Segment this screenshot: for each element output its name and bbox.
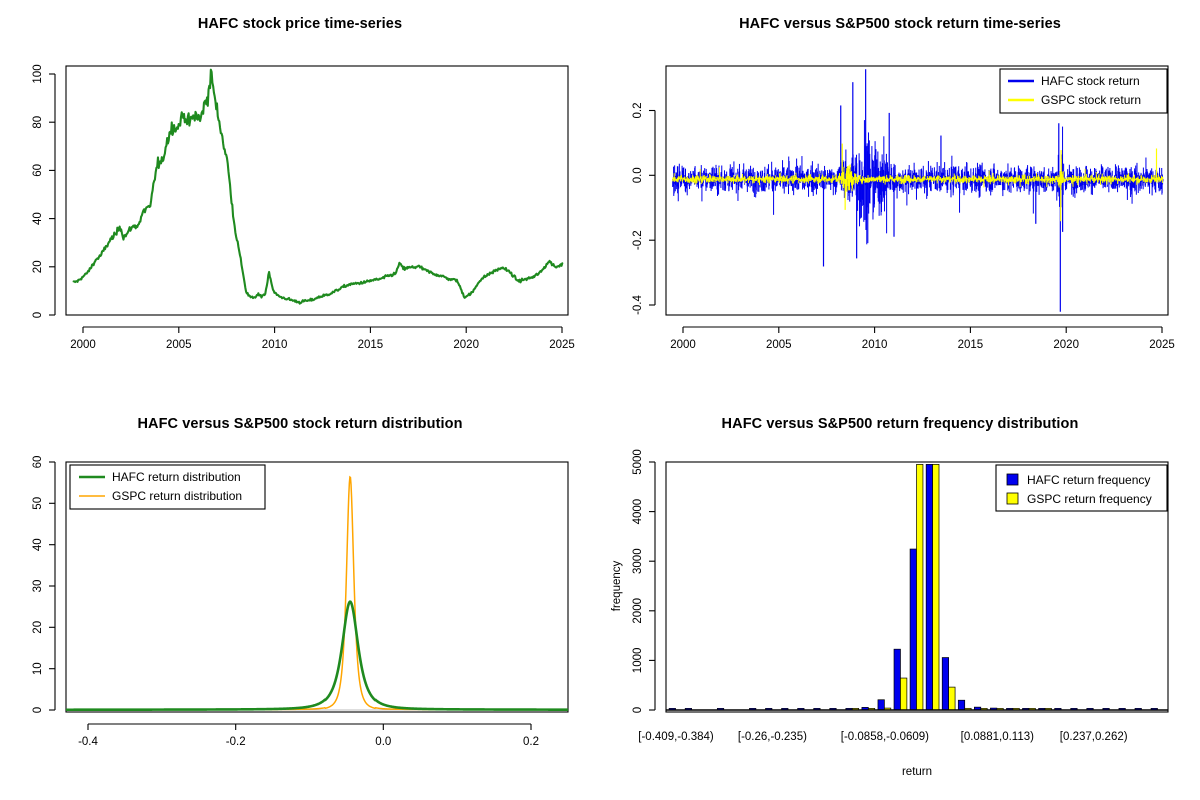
xtick-tl-5: 2025	[549, 339, 575, 351]
histogram-bar	[942, 658, 948, 710]
histogram-bar	[933, 464, 939, 710]
xtick-bl-0: -0.4	[78, 736, 98, 748]
ytick-tr-1: -0.2	[632, 230, 644, 250]
xtick-tr-5: 2025	[1149, 339, 1175, 351]
xtick-bl-1: -0.2	[226, 736, 246, 748]
xtick-tl-4: 2020	[453, 339, 479, 351]
x-axis-title-bottom-right: return	[902, 766, 932, 778]
ytick-bl-4: 40	[32, 538, 44, 551]
legend-label-gspc-frequency: GSPC return frequency	[1027, 492, 1152, 506]
legend-label-gspc-density: GSPC return distribution	[112, 489, 242, 503]
ytick-tl-1: 20	[32, 260, 44, 273]
histogram-bar	[910, 549, 916, 710]
ytick-br-2: 2000	[632, 598, 644, 624]
legend-bottom-left[interactable]: HAFC return distribution GSPC return dis…	[70, 465, 265, 509]
histogram-bar	[949, 687, 955, 710]
plot-bottom-right: 0 1000 2000 3000 4000 5000 frequency [-0…	[600, 400, 1200, 800]
xtick-tr-0: 2000	[670, 339, 696, 351]
ytick-tl-0: 0	[32, 312, 44, 318]
legend-label-hafc-frequency: HAFC return frequency	[1027, 473, 1150, 487]
xtick-tl-3: 2015	[358, 339, 384, 351]
bin-label: [0.0881,0.113)	[961, 731, 1034, 743]
ytick-tr-3: 0.2	[632, 103, 644, 119]
x-axis-bottom-left: -0.4 -0.2 0.0 0.2	[78, 724, 539, 748]
series-hafc-density	[66, 602, 568, 710]
histogram-bar	[878, 700, 884, 710]
ytick-bl-2: 20	[32, 621, 44, 634]
ytick-br-0: 0	[632, 707, 644, 713]
y-axis-bottom-right: 0 1000 2000 3000 4000 5000 frequency	[611, 449, 655, 713]
xtick-tl-1: 2005	[166, 339, 192, 351]
histogram-bar	[926, 464, 932, 710]
panel-return-frequency: HAFC versus S&P500 return frequency dist…	[600, 400, 1200, 800]
xtick-tl-2: 2010	[262, 339, 288, 351]
ytick-br-1: 1000	[632, 648, 644, 674]
bin-label: [-0.409,-0.384)	[638, 731, 714, 743]
ytick-bl-0: 0	[32, 707, 44, 713]
ytick-br-4: 4000	[632, 499, 644, 525]
panel-hafc-price-timeseries: HAFC stock price time-series 0 20 40 60 …	[0, 0, 600, 400]
legend-swatch-gspc-frequency	[1007, 493, 1018, 504]
xtick-bl-3: 0.2	[523, 736, 539, 748]
xtick-tr-2: 2010	[862, 339, 888, 351]
y-axis-top-right: -0.4 -0.2 0.0 0.2	[632, 103, 655, 315]
legend-swatch-hafc-frequency	[1007, 474, 1018, 485]
x-axis-bin-labels: [-0.409,-0.384)[-0.26,-0.235)[-0.0858,-0…	[638, 731, 1127, 743]
histogram-bar	[958, 700, 964, 710]
bin-label: [-0.26,-0.235)	[738, 731, 807, 743]
xtick-bl-2: 0.0	[375, 736, 391, 748]
ytick-tr-0: -0.4	[632, 294, 644, 314]
plot-bottom-left: 0 10 20 30 40 50 60 -0.4 -0.2 0.0 0.2	[0, 400, 600, 800]
ytick-br-3: 3000	[632, 548, 644, 574]
legend-label-hafc-density: HAFC return distribution	[112, 470, 241, 484]
ytick-bl-5: 50	[32, 497, 44, 510]
ytick-tl-3: 60	[32, 164, 44, 177]
ytick-bl-1: 10	[32, 662, 44, 675]
xtick-tr-1: 2005	[766, 339, 792, 351]
plot-top-right: -0.4 -0.2 0.0 0.2 2000 2005 2010 2015 20…	[600, 0, 1200, 400]
xtick-tr-3: 2015	[958, 339, 984, 351]
bin-label: [-0.0858,-0.0609)	[841, 731, 929, 743]
ytick-tr-2: 0.0	[632, 167, 644, 183]
series-gspc-density	[66, 477, 568, 710]
xtick-tr-4: 2020	[1053, 339, 1079, 351]
histogram-bar	[900, 678, 906, 710]
xtick-tl-0: 2000	[70, 339, 96, 351]
bin-label: [0.237,0.262)	[1060, 731, 1128, 743]
panel-return-timeseries: HAFC versus S&P500 stock return time-ser…	[600, 0, 1200, 400]
ytick-tl-5: 100	[32, 64, 44, 83]
legend-top-right[interactable]: HAFC stock return GSPC stock return	[1000, 69, 1167, 113]
ytick-tl-2: 40	[32, 212, 44, 225]
x-axis-top-left: 2000 2005 2010 2015 2020 2025	[70, 327, 575, 351]
legend-label-gspc-return: GSPC stock return	[1041, 93, 1141, 107]
ytick-bl-3: 30	[32, 580, 44, 593]
histogram-bar	[917, 464, 923, 710]
plot-box-top-left	[66, 66, 568, 315]
y-axis-title-bottom-right: frequency	[611, 561, 623, 612]
plot-top-left: 0 20 40 60 80 100 2000 2005 2010 2015	[0, 0, 600, 400]
y-axis-bottom-left: 0 10 20 30 40 50 60	[32, 456, 55, 714]
ytick-tl-4: 80	[32, 116, 44, 129]
figure-canvas: HAFC stock price time-series 0 20 40 60 …	[0, 0, 1200, 800]
ytick-bl-6: 60	[32, 456, 44, 469]
series-hafc-price	[74, 70, 563, 304]
histogram-bar	[894, 649, 900, 710]
ytick-br-5: 5000	[632, 449, 644, 475]
legend-label-hafc-return: HAFC stock return	[1041, 74, 1140, 88]
panel-return-density: HAFC versus S&P500 stock return distribu…	[0, 400, 600, 800]
y-axis-top-left: 0 20 40 60 80 100	[32, 64, 55, 318]
legend-bottom-right[interactable]: HAFC return frequency GSPC return freque…	[996, 465, 1167, 511]
x-axis-top-right: 2000 2005 2010 2015 2020 2025	[670, 327, 1175, 351]
